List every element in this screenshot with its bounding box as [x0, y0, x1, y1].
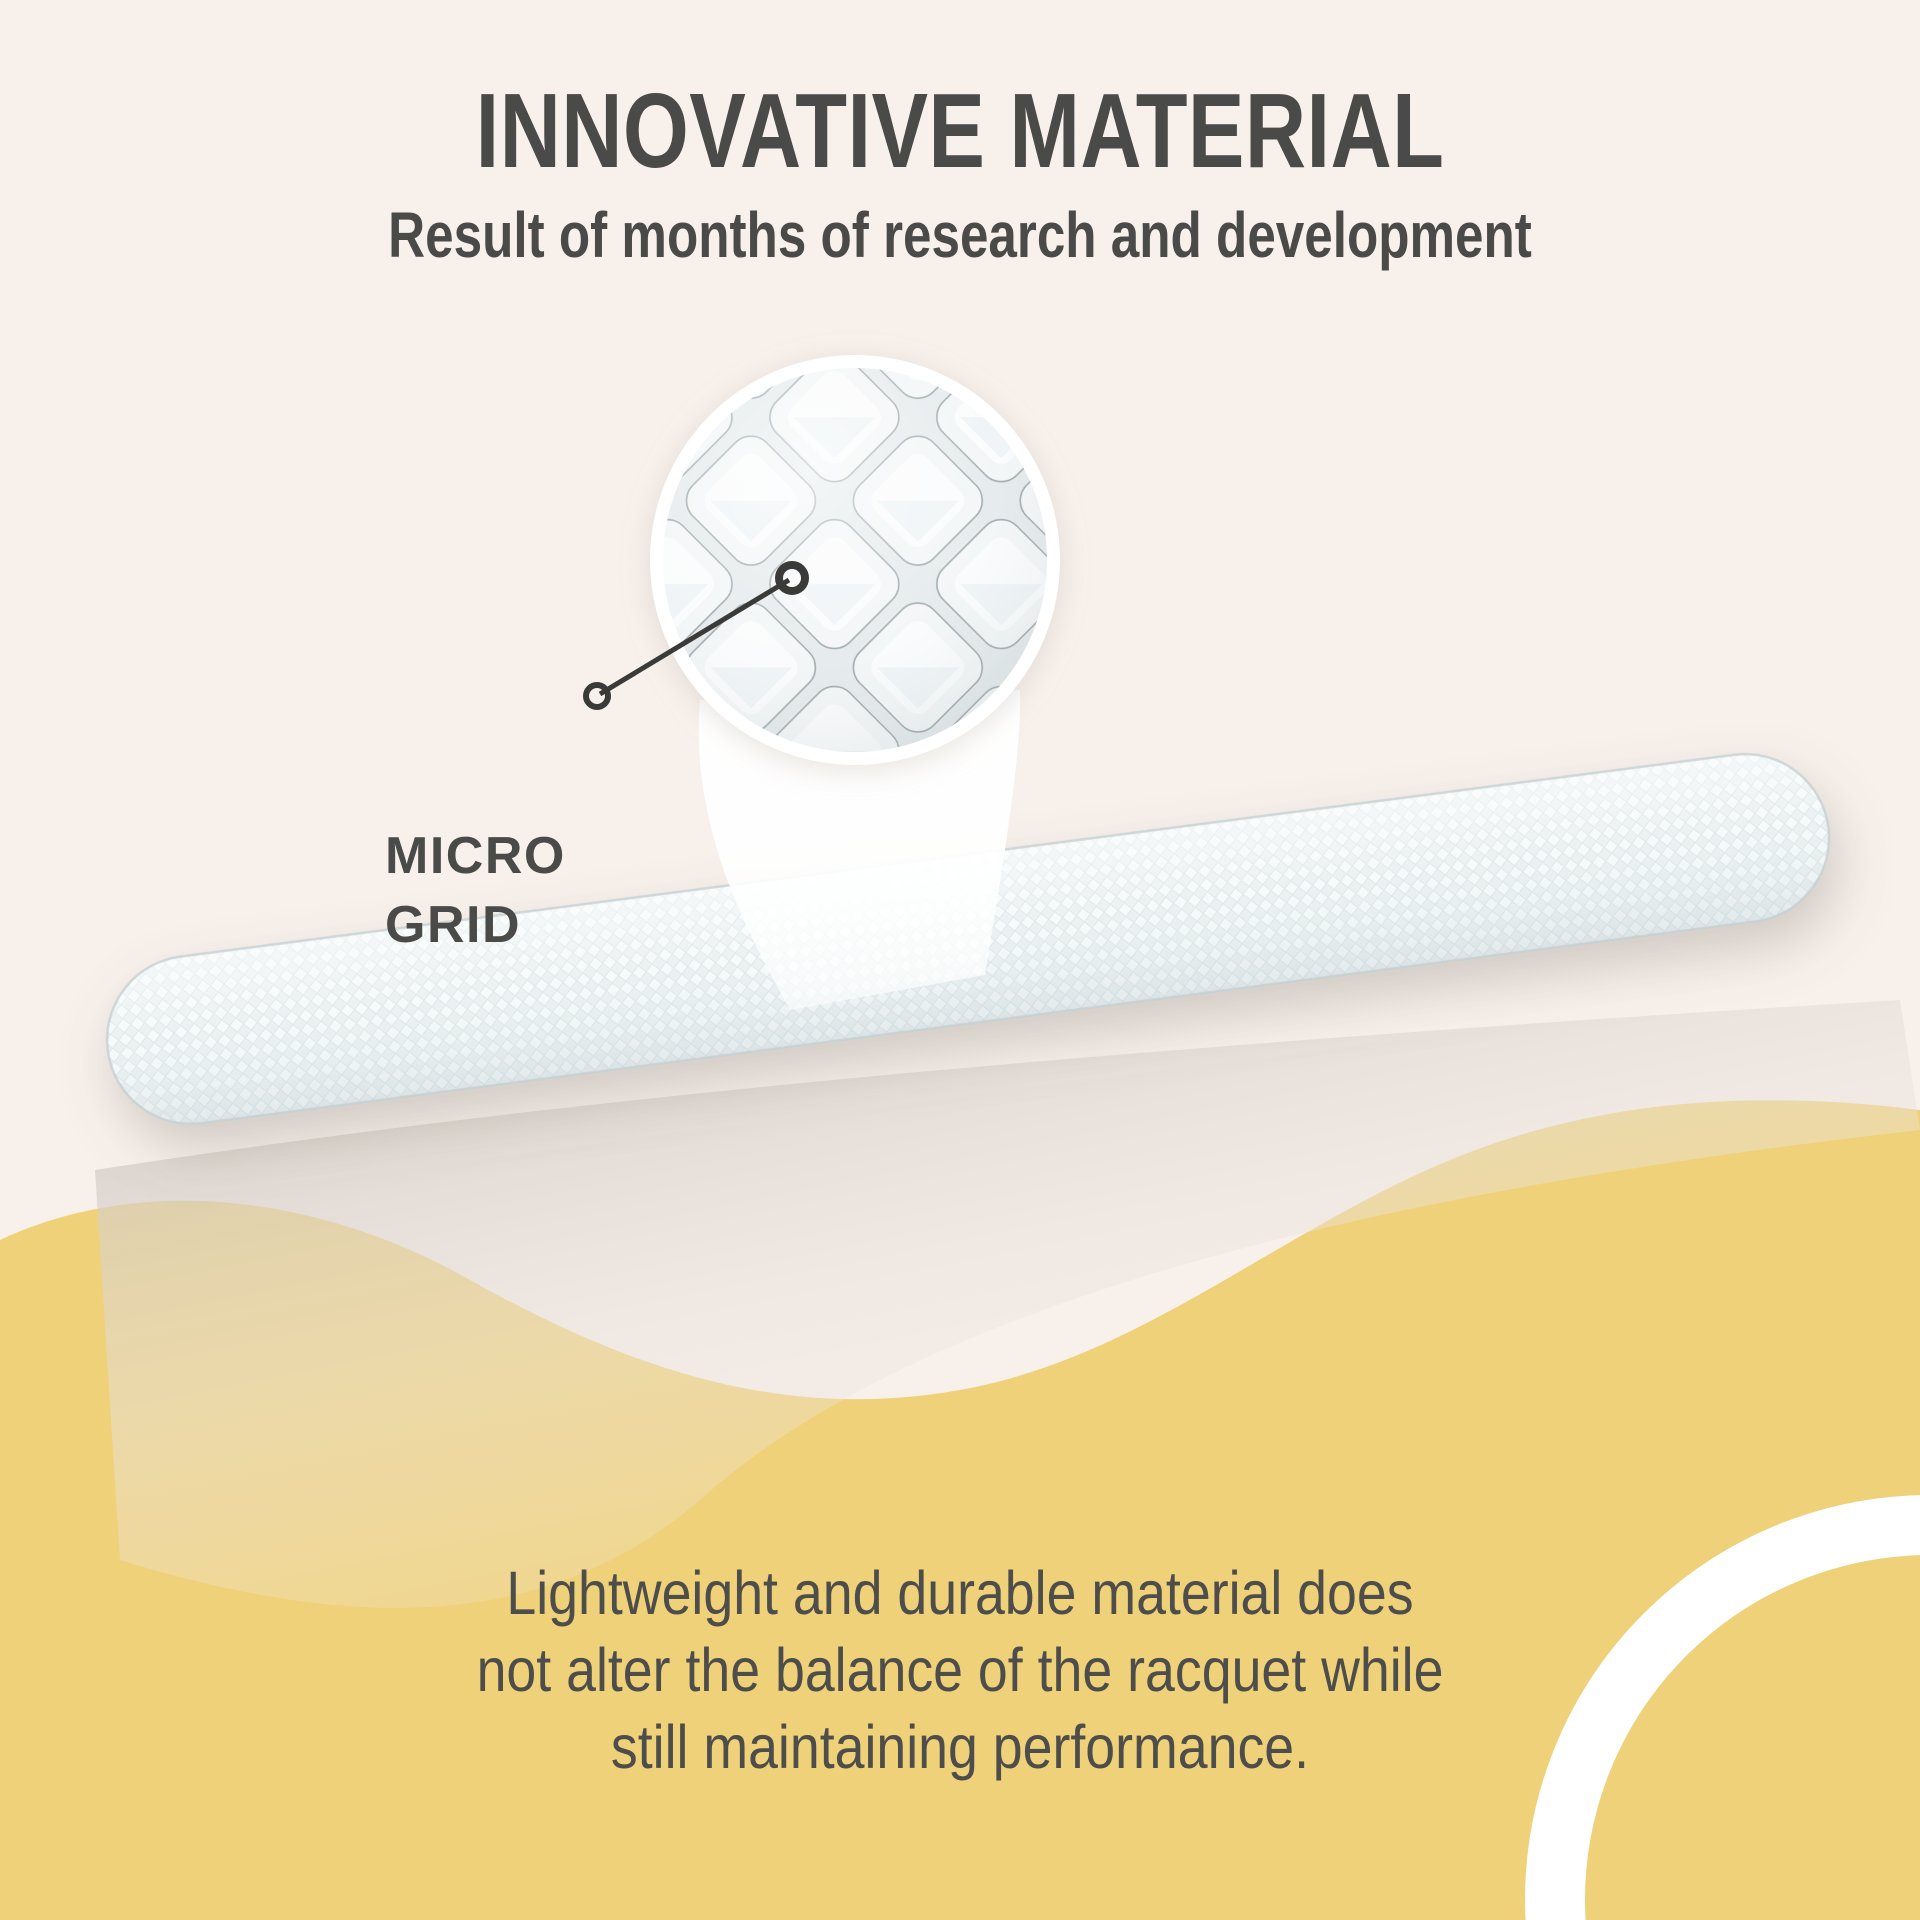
callout-leader-line — [0, 0, 1920, 1920]
micro-grid-label: MICRO GRID — [385, 822, 566, 959]
leader-ring-start-icon — [586, 685, 608, 707]
leader-ring-end-icon — [779, 565, 805, 591]
poster-canvas: INNOVATIVE MATERIAL Result of months of … — [0, 0, 1920, 1920]
